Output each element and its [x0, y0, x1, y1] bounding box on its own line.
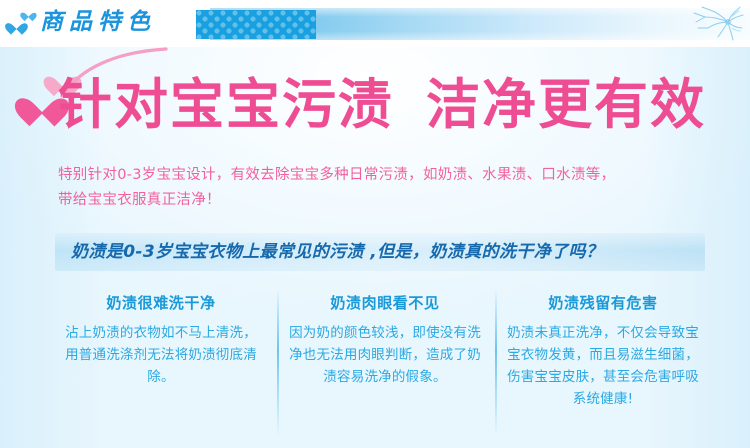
feature-column-3-body: 奶渍未真正洗净，不仅会导致宝宝衣物发黄，而且易滋生细菌，伤害宝宝皮肤，甚至会危害… — [505, 322, 701, 410]
heart-icon-large — [9, 18, 24, 32]
header-title: 商品特色 — [40, 7, 156, 37]
feature-column-3: 奶渍残留有危害 奶渍未真正洗净，不仅会导致宝宝衣物发黄，而且易滋生细菌，伤害宝宝… — [505, 292, 701, 410]
flower-dragonfly-icon — [688, 4, 744, 44]
heart-icon-small — [23, 9, 34, 19]
page-header: 商品特色 — [0, 0, 750, 47]
column-divider-1 — [277, 288, 279, 436]
intro-line-2: 带给宝宝衣服真正洁净！ — [58, 188, 718, 213]
feature-column-2: 奶渍肉眼看不见 因为奶的颜色较浅，即使没有洗净也无法用肉眼判断，造成了奶渍容易洗… — [287, 292, 483, 388]
question-banner-text: 奶渍是0-3岁宝宝衣物上最常见的污渍 ,但是，奶渍真的洗干净了吗？ — [71, 233, 603, 271]
feature-columns: 奶渍很难洗干净 沾上奶渍的衣物如不马上清洗，用普通洗涤剂无法将奶渍彻底清除。 奶… — [55, 292, 705, 442]
feature-column-2-body: 因为奶的颜色较浅，即使没有洗净也无法用肉眼判断，造成了奶渍容易洗净的假象。 — [287, 322, 483, 388]
feature-column-1: 奶渍很难洗干净 沾上奶渍的衣物如不马上清洗，用普通洗涤剂无法将奶渍彻底清除。 — [63, 292, 259, 388]
intro-paragraph: 特别针对0-3岁宝宝设计，有效去除宝宝多种日常污渍，如奶渍、水果渍、口水渍等， … — [58, 163, 718, 213]
question-banner: 奶渍是0-3岁宝宝衣物上最常见的污渍 ,但是，奶渍真的洗干净了吗？ — [55, 233, 705, 271]
feature-column-1-title: 奶渍很难洗干净 — [63, 292, 259, 313]
page-title-part2: 洁净更有效 — [426, 73, 706, 136]
page-title-part1: 针对宝宝污渍 — [58, 73, 394, 136]
feature-column-2-title: 奶渍肉眼看不见 — [287, 292, 483, 313]
column-divider-2 — [495, 288, 497, 436]
feature-column-3-title: 奶渍残留有危害 — [505, 292, 701, 313]
page-title: 针对宝宝污渍洁净更有效 — [58, 69, 706, 141]
intro-line-1: 特别针对0-3岁宝宝设计，有效去除宝宝多种日常污渍，如奶渍、水果渍、口水渍等， — [58, 163, 718, 188]
product-feature-page: 商品特色 — [0, 0, 750, 448]
heart-pattern-band-icon — [196, 10, 316, 39]
hero-section: 针对宝宝污渍洁净更有效 — [0, 75, 750, 153]
feature-column-1-body: 沾上奶渍的衣物如不马上清洗，用普通洗涤剂无法将奶渍彻底清除。 — [63, 322, 259, 388]
